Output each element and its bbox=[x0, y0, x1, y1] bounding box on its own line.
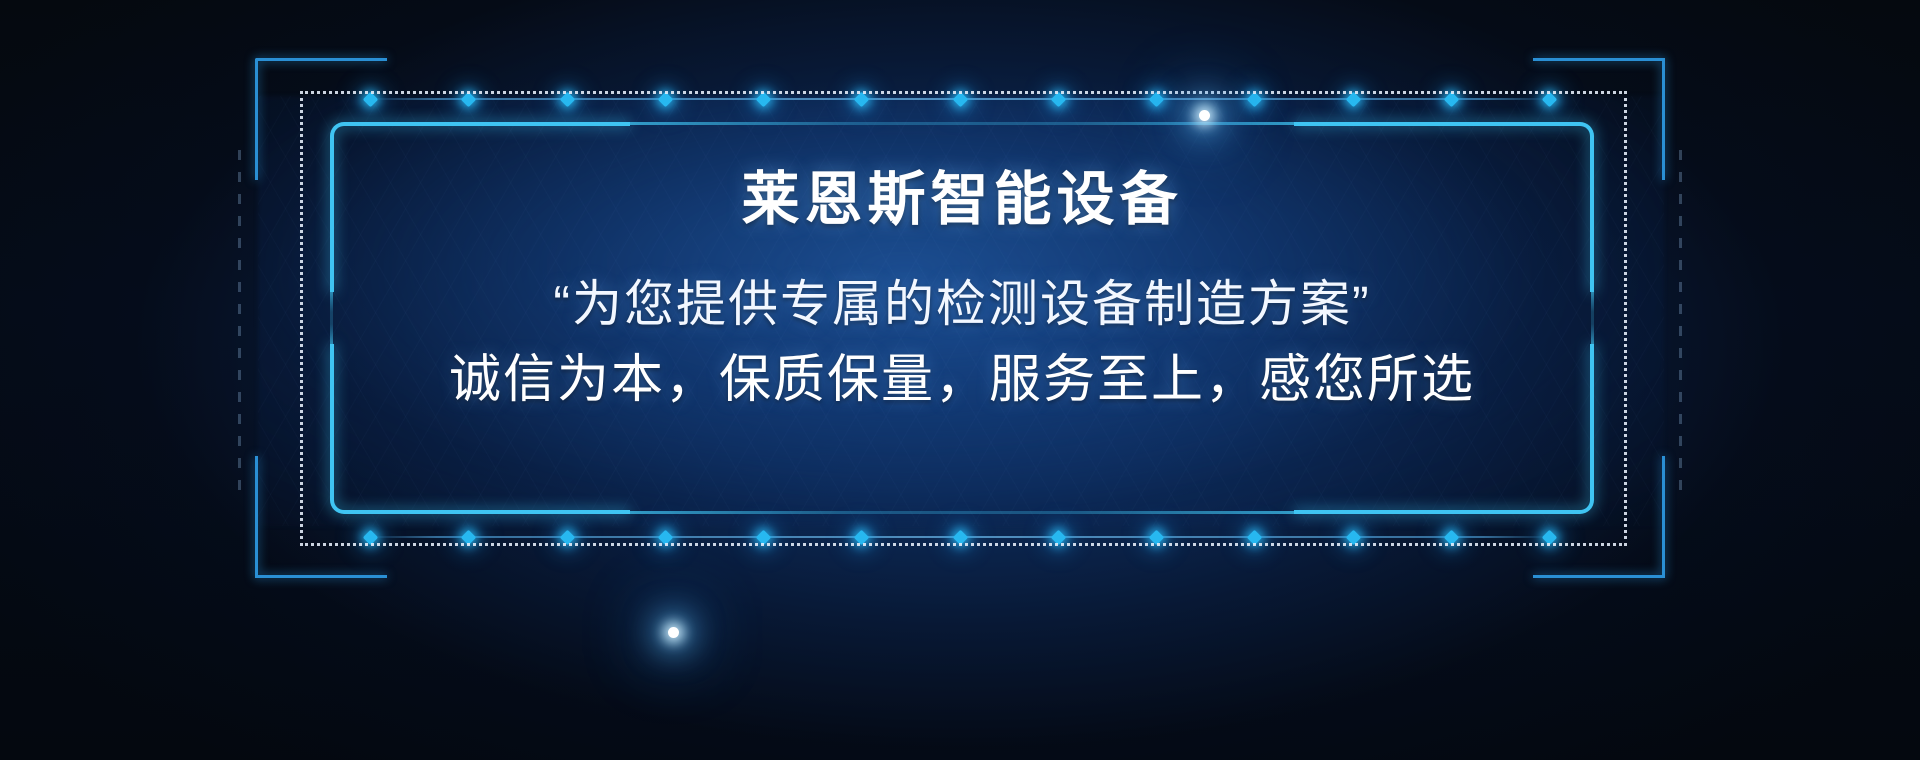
promo-banner: 莱恩斯智能设备 “为您提供专属的检测设备制造方案” 诚信为本，保质保量，服务至上… bbox=[0, 0, 1920, 760]
banner-slogan-quote: “为您提供专属的检测设备制造方案” bbox=[553, 276, 1370, 334]
banner-title: 莱恩斯智能设备 bbox=[741, 168, 1182, 232]
banner-motto: 诚信为本，保质保量，服务至上，感您所选 bbox=[449, 351, 1475, 411]
banner-text-block: 莱恩斯智能设备 “为您提供专属的检测设备制造方案” 诚信为本，保质保量，服务至上… bbox=[330, 122, 1594, 514]
